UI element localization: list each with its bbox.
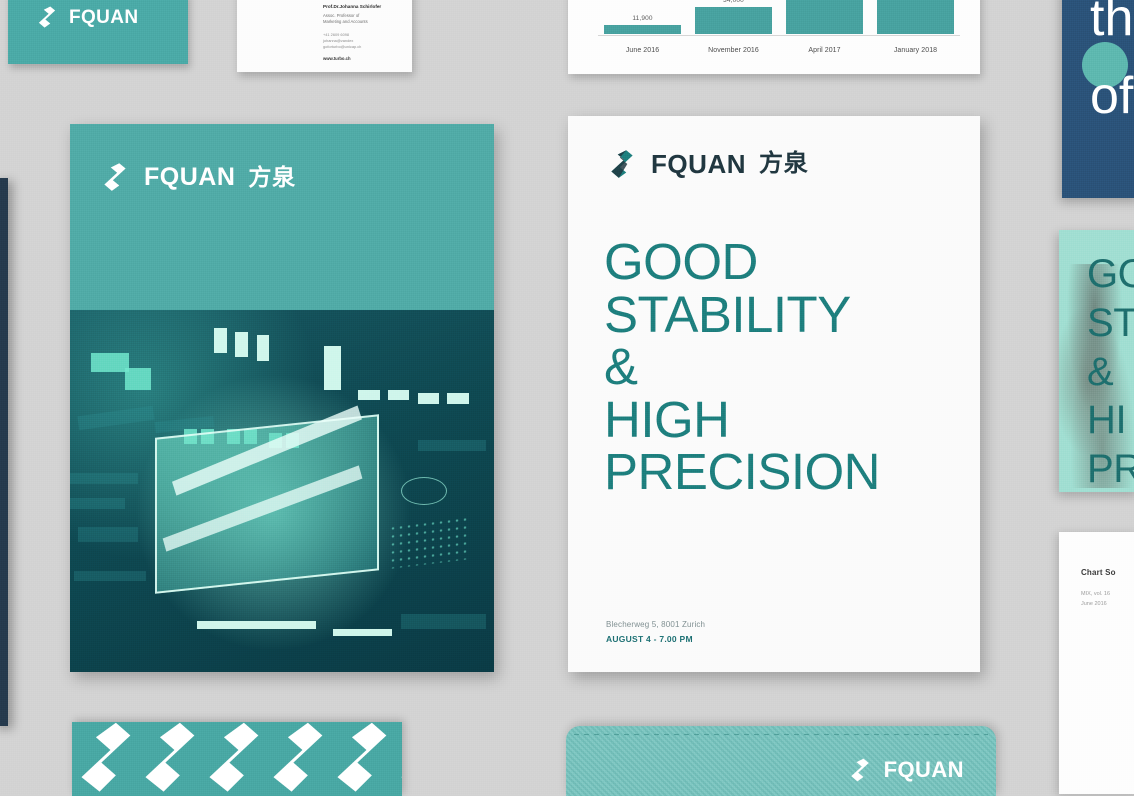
fquan-logo-mark-icon <box>204 722 262 796</box>
wordmark-cjk: 方泉 <box>248 166 295 189</box>
headline-line: & <box>604 341 956 394</box>
fquan-logo-mark-icon <box>332 722 390 796</box>
headline-line: STABILITY <box>604 289 956 342</box>
navy-poster-line-1: th <box>1090 0 1133 44</box>
pattern-strip <box>72 722 402 796</box>
chip-highlight <box>155 414 379 594</box>
navy-poster-line-2: of <box>1090 70 1133 122</box>
x-tick-label: June 2016 <box>604 47 681 54</box>
fquan-logo-mark-icon <box>268 722 326 796</box>
poster-datetime: AUGUST 4 - 7.00 PM <box>606 634 705 644</box>
fquan-logo-mark-icon <box>76 722 134 796</box>
wordmark-cjk: 方泉 <box>759 152 808 176</box>
mint-headline-line: & <box>1087 348 1134 397</box>
poster-headline: GOODSTABILITY&HIGHPRECISION <box>604 236 956 499</box>
contact-name: Prof.Dr.Johanna Schirlofer <box>323 4 381 11</box>
contact-title: Assoc. Professor of Marketing and Accoun… <box>323 13 381 26</box>
bar-column <box>786 0 863 34</box>
contact-website: www.turbo.ch <box>323 56 381 61</box>
logo-lockup: FQUAN 方泉 <box>98 160 296 194</box>
x-tick-label: January 2018 <box>877 47 954 54</box>
bar <box>877 0 954 34</box>
mint-poster-headline: GOST&HIPR <box>1087 250 1134 492</box>
poster-footer: Blecherweg 5, 8001 Zurich AUGUST 4 - 7.0… <box>606 618 705 644</box>
poster-address: Blecherweg 5, 8001 Zurich <box>606 618 705 632</box>
chart-x-axis <box>598 35 960 36</box>
wordmark: FQUAN <box>651 151 746 177</box>
logo-lockup: FQUAN 方泉 <box>605 147 809 181</box>
navy-edge-panel <box>0 178 8 726</box>
mint-poster-right: GOST&HIPR <box>1059 230 1134 492</box>
bar-column: 11,900 <box>604 0 681 34</box>
bar-value-label: 34,000 <box>723 0 744 4</box>
bar-chart-plot-area: 11,90034,000 <box>604 0 954 34</box>
stitch-line <box>574 734 988 735</box>
mint-headline-line: GO <box>1087 250 1134 299</box>
fquan-logo-mark-icon <box>846 756 874 784</box>
brochure-header-band: FQUAN 方泉 <box>70 124 494 310</box>
mint-headline-line: HI <box>1087 396 1134 445</box>
logo-lockup: FQUAN <box>846 756 964 784</box>
x-tick-label: April 2017 <box>786 47 863 54</box>
mint-headline-line: PR <box>1087 445 1134 492</box>
wordmark: FQUAN <box>69 8 138 27</box>
brochure-cover: FQUAN 方泉 <box>70 124 494 672</box>
business-card: technology co. Prof.Dr.Johanna Schirlofe… <box>237 0 412 72</box>
source-card-title: Chart So <box>1081 568 1116 577</box>
chart-source-card: Chart So MIX, vol. 16 June 2016 <box>1059 532 1134 794</box>
bar <box>604 25 681 34</box>
bar-value-label: 11,900 <box>632 15 652 22</box>
chart-card: 11,90034,000 June 2016November 2016April… <box>568 0 980 74</box>
bar-column: 34,000 <box>695 0 772 34</box>
logo-lockup: FQUAN <box>34 4 138 30</box>
circular-pad-icon <box>401 477 447 505</box>
headline-line: GOOD <box>604 236 956 289</box>
contact-details: +41 2609 6098 johanna@vandex goforturbo@… <box>323 32 381 51</box>
bar-series: 11,90034,000 <box>604 0 954 34</box>
business-card-details: Prof.Dr.Johanna Schirlofer Assoc. Profes… <box>323 4 381 61</box>
fabric-pouch: FQUAN <box>566 726 996 796</box>
fquan-logo-mark-icon <box>34 4 60 30</box>
bar <box>786 0 863 34</box>
source-card-subtext: MIX, vol. 16 June 2016 <box>1081 590 1110 610</box>
wordmark: FQUAN <box>144 165 235 190</box>
headline-line: HIGH <box>604 394 956 447</box>
wordmark: FQUAN <box>884 759 964 781</box>
fquan-logo-mark-icon <box>140 722 198 796</box>
x-tick-label: November 2016 <box>695 47 772 54</box>
fquan-logo-mark-icon <box>605 147 639 181</box>
fquan-logo-mark-icon <box>98 160 132 194</box>
bar-column <box>877 0 954 34</box>
navy-poster-right: th of <box>1062 0 1134 198</box>
bar <box>695 7 772 34</box>
brochure-photo <box>70 310 494 672</box>
fquan-logo-mark-icon <box>396 722 402 796</box>
mint-headline-line: ST <box>1087 299 1134 348</box>
event-poster: FQUAN 方泉 GOODSTABILITY&HIGHPRECISION Ble… <box>568 116 980 672</box>
teal-business-card-top-left: FQUAN <box>8 0 188 64</box>
pattern-motif-row <box>72 722 402 796</box>
chart-x-tick-labels: June 2016November 2016April 2017January … <box>604 47 954 54</box>
circuit-board-image <box>70 310 494 672</box>
dot-grid-pattern <box>389 515 469 569</box>
headline-line: PRECISION <box>604 446 956 499</box>
